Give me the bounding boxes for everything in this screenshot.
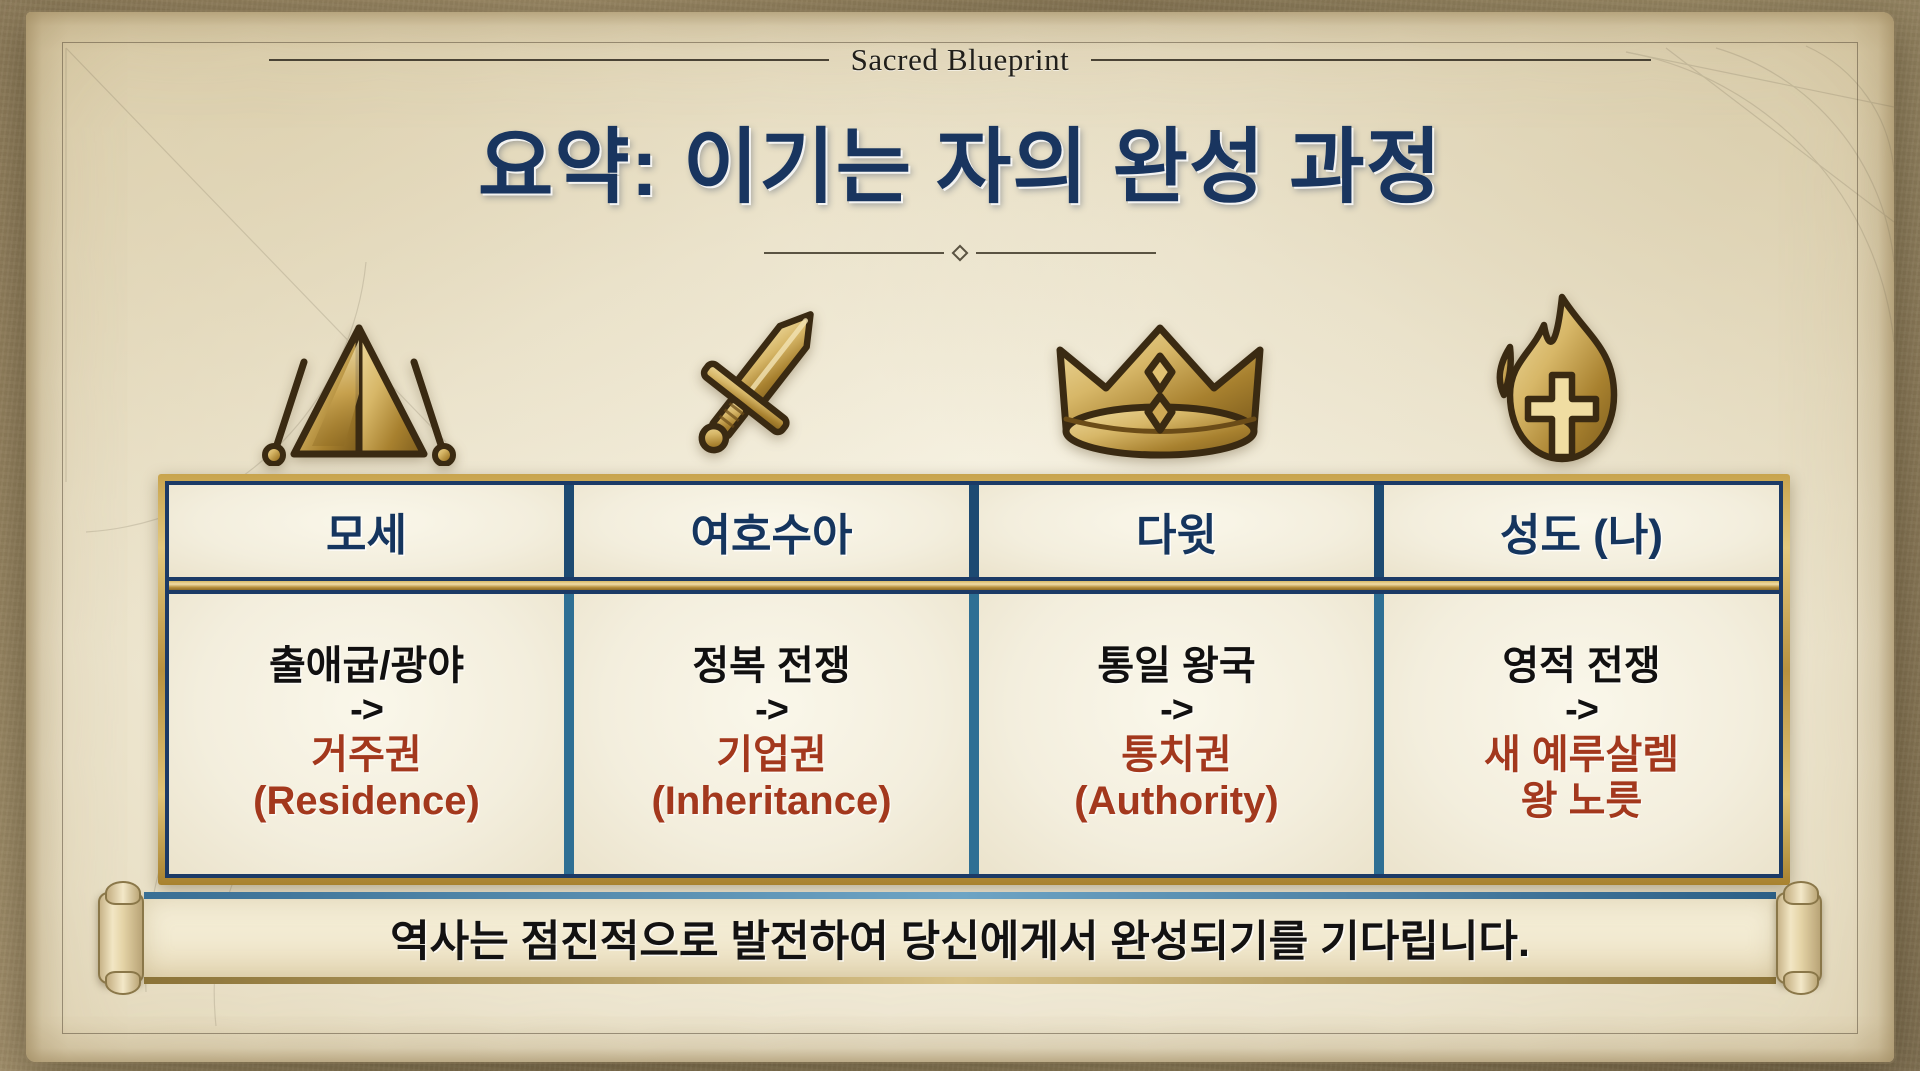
cell-1-arrow: -> xyxy=(350,690,383,732)
crown-icon xyxy=(1048,316,1273,466)
cell-3-arrow: -> xyxy=(1160,690,1193,732)
table-header-cell-3: 다윗 xyxy=(979,485,1374,577)
cell-2-result-line2: (Inheritance) xyxy=(651,779,891,823)
table-header-cell-1: 모세 xyxy=(169,485,564,577)
cell-3-result-line1: 통치권 xyxy=(1121,733,1231,777)
icon-cell-sword xyxy=(559,270,960,470)
eyebrow-rule-left xyxy=(269,59,829,61)
table-body-cell-4: 영적 전쟁 -> 새 예루살렘 왕 노릇 xyxy=(1384,594,1779,874)
eyebrow-rule-right xyxy=(1091,59,1651,61)
scroll-banner-body: 역사는 점진적으로 발전하여 당신에게서 완성되기를 기다립니다. xyxy=(144,892,1776,984)
table-body-cell-2: 정복 전쟁 -> 기업권 (Inheritance) xyxy=(574,594,969,874)
cell-4-arrow: -> xyxy=(1565,690,1598,732)
table-body-row: 출애굽/광야 -> 거주권 (Residence) 정복 전쟁 -> 기업권 (… xyxy=(169,594,1779,874)
eyebrow-label: Sacred Blueprint xyxy=(851,42,1070,78)
cell-1-result-line2: (Residence) xyxy=(253,779,480,823)
scroll-knob-right xyxy=(1776,892,1822,984)
icon-cell-tent xyxy=(158,270,559,470)
cell-1-result-line1: 거주권 xyxy=(311,733,421,777)
table-header-cell-2: 여호수아 xyxy=(574,485,969,577)
cell-2-arrow: -> xyxy=(755,690,788,732)
scroll-banner-text: 역사는 점진적으로 발전하여 당신에게서 완성되기를 기다립니다. xyxy=(390,907,1530,969)
page-title: 요약: 이기는 자의 완성 과정 xyxy=(26,100,1894,219)
icon-cell-flame-cross xyxy=(1361,270,1762,470)
cell-3-stage: 통일 왕국 xyxy=(1097,645,1255,688)
title-divider xyxy=(26,247,1894,259)
title-divider-line-right xyxy=(976,252,1156,254)
icon-row xyxy=(158,270,1762,470)
cell-4-result-line1: 새 예루살렘 xyxy=(1484,733,1679,777)
table-body-cell-1: 출애굽/광야 -> 거주권 (Residence) xyxy=(169,594,564,874)
eyebrow-header: Sacred Blueprint xyxy=(26,42,1894,78)
table-inner-frame: 모세 여호수아 다윗 성도 (나) 출애굽/광야 -> 거주권 (Residen… xyxy=(165,481,1783,878)
table-row-divider xyxy=(169,581,1779,590)
table-header-row: 모세 여호수아 다윗 성도 (나) xyxy=(169,485,1779,577)
cell-2-result-line1: 기업권 xyxy=(716,733,826,777)
sword-icon xyxy=(665,291,855,466)
icon-cell-crown xyxy=(960,270,1361,470)
scroll-knob-left xyxy=(98,892,144,984)
flame-cross-icon xyxy=(1482,291,1642,466)
cell-4-stage: 영적 전쟁 xyxy=(1502,645,1660,688)
cell-4-result-line2: 왕 노릇 xyxy=(1521,779,1643,823)
table-header-cell-4: 성도 (나) xyxy=(1384,485,1779,577)
scroll-banner: 역사는 점진적으로 발전하여 당신에게서 완성되기를 기다립니다. xyxy=(98,892,1822,984)
cell-3-result-line2: (Authority) xyxy=(1074,779,1278,823)
background-backdrop: Sacred Blueprint 요약: 이기는 자의 완성 과정 xyxy=(0,0,1920,1071)
diamond-icon xyxy=(952,245,969,262)
cell-1-stage: 출애굽/광야 xyxy=(269,645,464,688)
title-divider-line-left xyxy=(764,252,944,254)
comparison-table: 모세 여호수아 다윗 성도 (나) 출애굽/광야 -> 거주권 (Residen… xyxy=(158,474,1790,885)
parchment-sheet: Sacred Blueprint 요약: 이기는 자의 완성 과정 xyxy=(26,12,1894,1062)
tent-icon xyxy=(244,316,474,466)
cell-2-stage: 정복 전쟁 xyxy=(692,645,850,688)
table-body-cell-3: 통일 왕국 -> 통치권 (Authority) xyxy=(979,594,1374,874)
